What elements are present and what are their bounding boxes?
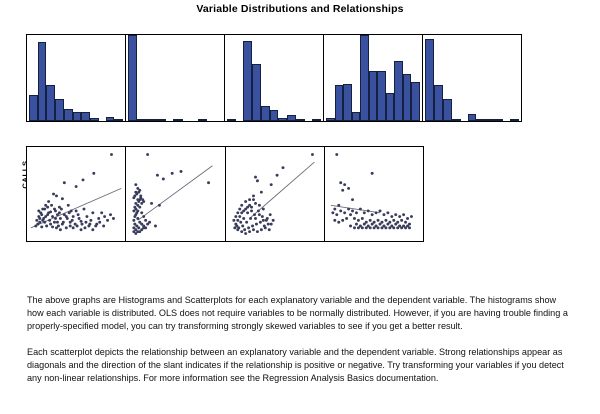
scatter-point — [267, 228, 270, 231]
scatter-point — [337, 204, 340, 207]
scatter-point — [53, 221, 56, 224]
histogram-bar — [73, 112, 82, 121]
scatter-point — [254, 223, 257, 226]
scatter-point — [357, 219, 360, 222]
scatter-point — [261, 219, 264, 222]
scatter-point — [243, 228, 246, 231]
histogram-bar — [278, 118, 287, 121]
scatter-point — [410, 215, 413, 218]
scatter-point — [351, 210, 354, 213]
scatter-point — [139, 206, 142, 209]
scatter-point — [265, 217, 268, 220]
scatter-point — [310, 153, 313, 156]
scatter-point — [349, 225, 352, 228]
scatter-point — [44, 215, 47, 218]
scatter-point — [333, 208, 336, 211]
scatter-point — [236, 219, 239, 222]
scatter-point — [135, 191, 138, 194]
scatter-point — [46, 206, 49, 209]
scatter-point — [248, 198, 251, 201]
histogram-bar — [425, 39, 434, 121]
histogram-bar — [369, 71, 378, 121]
scatter-point — [345, 217, 348, 220]
notes-paragraph-histograms: The above graphs are Histograms and Scat… — [27, 294, 575, 334]
scatter-point — [386, 211, 389, 214]
scatter-point — [142, 225, 145, 228]
scatter-point — [207, 181, 210, 184]
scatter-point — [275, 174, 278, 177]
scatter-canvas — [27, 147, 125, 241]
scatter-point — [66, 217, 69, 220]
scatter-point — [353, 226, 356, 229]
scatter-point — [394, 213, 397, 216]
histogram-bars — [425, 35, 519, 121]
scatter-point — [339, 210, 342, 213]
scatter-point — [91, 211, 94, 214]
histogram-bar — [252, 64, 261, 121]
scatter-point — [347, 208, 350, 211]
scatter-point — [244, 200, 247, 203]
scatter-point — [256, 210, 259, 213]
scatter-point — [244, 232, 247, 235]
histogram-bar — [296, 119, 305, 121]
scatter-point — [376, 226, 379, 229]
histogram-bar — [443, 99, 452, 121]
scatter-point — [242, 210, 245, 213]
histogram-bar — [360, 35, 369, 121]
scatter-point — [55, 226, 58, 229]
scatter-point — [363, 211, 366, 214]
histogram-bars — [227, 35, 321, 121]
scatter-point — [35, 219, 38, 222]
scatter-point — [140, 211, 143, 214]
scatter-point — [110, 153, 113, 156]
scatter-point — [142, 215, 145, 218]
scatter-point — [343, 183, 346, 186]
scatter-point — [98, 221, 101, 224]
histogram-bars — [128, 35, 222, 121]
scatter-point — [43, 208, 46, 211]
histogram-bar — [468, 114, 477, 121]
scatter-point — [341, 189, 344, 192]
scatter-point — [396, 226, 399, 229]
scatter-point — [54, 210, 57, 213]
scatter-point — [83, 208, 86, 211]
scatter-point — [150, 202, 153, 205]
scatter-point — [370, 223, 373, 226]
scatter-point — [52, 193, 55, 196]
scatter-point — [388, 226, 391, 229]
scatter-point — [144, 219, 147, 222]
scatter-point — [240, 230, 243, 233]
scatter-point — [378, 223, 381, 226]
scatter-point — [253, 213, 256, 216]
scatter-point — [406, 217, 409, 220]
histogram-bar — [90, 118, 99, 121]
scatter-point — [134, 223, 137, 226]
scatter-point — [251, 225, 254, 228]
scatter-point — [67, 204, 70, 207]
scatter-point — [89, 219, 92, 222]
histogram-bar — [198, 119, 207, 121]
scatter-point — [260, 215, 263, 218]
scatter-point — [63, 213, 66, 216]
page-title: Variable Distributions and Relationships — [0, 3, 600, 15]
scatter-point — [77, 213, 80, 216]
scatter-point — [80, 228, 83, 231]
scatter-point — [138, 191, 141, 194]
scatter-point — [63, 181, 66, 184]
scatter-point — [384, 219, 387, 222]
histogram-bar — [227, 119, 236, 121]
scatter-point — [100, 211, 103, 214]
histogram-bar — [106, 117, 115, 121]
scatter-point — [365, 226, 368, 229]
scatter-point — [154, 225, 157, 228]
scatter-point — [148, 221, 151, 224]
scatter-point — [368, 226, 371, 229]
scatter-canvas — [325, 147, 423, 241]
scatter-point — [238, 208, 241, 211]
scatter-point — [103, 215, 106, 218]
histogram-bar — [64, 109, 73, 121]
scatter-point — [70, 210, 73, 213]
scatter-point — [92, 172, 95, 175]
scatter-point — [139, 230, 142, 233]
scatter-point — [40, 225, 43, 228]
histogram-bar — [114, 119, 123, 121]
notes-section: The above graphs are Histograms and Scat… — [27, 294, 575, 397]
scatter-point — [252, 194, 255, 197]
histogram-bars — [326, 35, 420, 121]
scatter-point — [400, 219, 403, 222]
scatter-canvas — [226, 147, 324, 241]
scatter-point — [359, 208, 362, 211]
histogram-bar — [326, 118, 335, 121]
scatter-point — [239, 221, 242, 224]
scatter-point — [60, 208, 63, 211]
scatter-point — [171, 172, 174, 175]
scatter-point — [268, 213, 271, 216]
scatter-point — [240, 204, 243, 207]
scatter-point — [59, 217, 62, 220]
scatter-point — [80, 220, 83, 223]
scatter-point — [269, 183, 272, 186]
histogram-bar — [485, 119, 494, 121]
scatter-point — [97, 217, 100, 220]
histogram-panel-calls: CALLS — [423, 35, 521, 121]
scatter-point — [271, 219, 274, 222]
histogram-bar — [46, 85, 55, 121]
histogram-bar — [352, 112, 361, 121]
scatter-point — [72, 215, 75, 218]
scatter-point — [133, 226, 136, 229]
scatter-point — [133, 219, 136, 222]
histogram-bar — [156, 119, 165, 121]
scatter-point — [370, 172, 373, 175]
scatter-point — [374, 211, 377, 214]
scatter-point — [337, 221, 340, 224]
scatter-point — [247, 226, 250, 229]
scatter-point — [386, 223, 389, 226]
scatter-point — [353, 217, 356, 220]
scatter-point — [259, 191, 262, 194]
scatter-point — [135, 183, 138, 186]
histogram-bar — [394, 61, 403, 121]
scatter-point — [51, 225, 54, 228]
scatter-point — [257, 204, 260, 207]
scatter-point — [91, 228, 94, 231]
scatter-point — [351, 198, 354, 201]
scatter-point — [250, 210, 253, 213]
histogram-bar — [38, 42, 47, 121]
scatter-point — [47, 200, 50, 203]
scatter-point — [109, 213, 112, 216]
scatter-point — [378, 210, 381, 213]
scatter-point — [37, 210, 40, 213]
scatter-point — [404, 226, 407, 229]
scatter-point — [355, 211, 358, 214]
scatter-point — [238, 215, 241, 218]
scatter-point — [404, 221, 407, 224]
scatter-point — [146, 153, 149, 156]
scatter-point — [55, 194, 58, 197]
notes-paragraph-scatterplots: Each scatterplot depicts the relationshi… — [27, 346, 575, 386]
histogram-bars — [29, 35, 123, 121]
scatter-point — [249, 217, 252, 220]
histogram-bar — [137, 119, 146, 121]
scatter-point — [281, 166, 284, 169]
scatter-point — [158, 204, 161, 207]
scatter-canvas — [126, 147, 224, 241]
scatter-point — [245, 221, 248, 224]
scatter-point — [248, 230, 251, 233]
histogram-bar — [261, 106, 270, 121]
scatter-point — [137, 217, 140, 220]
histogram-row: POP JOBS LOWEDUC DST2URBCEN CALLS — [26, 34, 522, 122]
scatter-point — [47, 211, 50, 214]
scatter-point — [50, 204, 53, 207]
scatter-point — [349, 213, 352, 216]
scatter-point — [85, 215, 88, 218]
scatter-point — [34, 225, 37, 228]
scatter-point — [180, 170, 183, 173]
histogram-bar — [55, 99, 64, 121]
scatter-point — [51, 215, 54, 218]
scatter-point — [137, 187, 140, 190]
scatter-panel-calls-vs-jobs — [126, 147, 225, 241]
scatter-point — [357, 226, 360, 229]
scatter-point — [54, 217, 57, 220]
scatter-point — [61, 197, 64, 200]
scatter-point — [95, 223, 98, 226]
scatter-point — [38, 217, 41, 220]
histogram-bar — [476, 119, 485, 121]
histogram-bar — [510, 119, 519, 121]
scatter-point — [341, 219, 344, 222]
scatter-point — [236, 211, 239, 214]
scatter-point — [361, 217, 364, 220]
scatter-point — [75, 210, 78, 213]
scatter-point — [87, 225, 90, 228]
scatter-point — [382, 213, 385, 216]
scatter-point — [76, 225, 79, 228]
scatter-point — [269, 223, 272, 226]
scatter-point — [133, 196, 136, 199]
scatter-point — [156, 174, 159, 177]
scatter-point — [81, 223, 84, 226]
scatter-point — [331, 211, 334, 214]
scatter-point — [339, 181, 342, 184]
histogram-bar — [494, 119, 503, 121]
scatter-point — [259, 228, 262, 231]
scatter-point — [347, 187, 350, 190]
scatter-point — [49, 223, 52, 226]
scatter-point — [255, 179, 258, 182]
scatter-point — [392, 219, 395, 222]
scatter-point — [78, 217, 81, 220]
histogram-bar — [243, 41, 252, 121]
scatter-point — [48, 219, 51, 222]
histogram-bar — [386, 93, 395, 121]
scatter-point — [162, 178, 165, 181]
scatter-point — [254, 217, 257, 220]
scatter-point — [335, 213, 338, 216]
scatter-point — [367, 210, 370, 213]
scatter-point — [252, 228, 255, 231]
scatter-point — [398, 215, 401, 218]
scatter-point — [234, 215, 237, 218]
scatter-point — [376, 219, 379, 222]
scatter-point — [390, 215, 393, 218]
scatter-point — [236, 228, 239, 231]
scatter-point — [372, 226, 375, 229]
scatter-point — [246, 206, 249, 209]
scatter-point — [368, 219, 371, 222]
scatterplot-row — [26, 146, 424, 242]
histogram-bar — [335, 85, 344, 121]
scatter-point — [250, 206, 253, 209]
scatter-point — [233, 226, 236, 229]
scatter-point — [335, 153, 338, 156]
scatter-fit-line — [138, 166, 213, 221]
scatter-point — [408, 226, 411, 229]
scatter-point — [363, 223, 366, 226]
scatter-point — [400, 226, 403, 229]
histogram-bar — [411, 82, 420, 121]
scatter-point — [83, 226, 86, 229]
scatter-point — [45, 225, 48, 228]
scatter-point — [392, 226, 395, 229]
histogram-bar — [403, 74, 412, 121]
scatter-point — [138, 226, 141, 229]
scatter-point — [355, 223, 358, 226]
histogram-bar — [270, 110, 279, 121]
histogram-panel-loweduc: LOWEDUC — [225, 35, 324, 121]
scatter-point — [56, 221, 59, 224]
scatter-point — [84, 221, 87, 224]
scatter-point — [258, 221, 261, 224]
scatter-point — [384, 226, 387, 229]
scatter-point — [75, 185, 78, 188]
scatter-point — [242, 217, 245, 220]
histogram-bar — [173, 119, 182, 121]
scatter-point — [59, 228, 62, 231]
scatter-point — [106, 219, 109, 222]
scatter-point — [255, 230, 258, 233]
scatter-point — [40, 213, 43, 216]
scatter-point — [137, 210, 140, 213]
scatter-point — [254, 176, 257, 179]
scatter-point — [140, 194, 143, 197]
scatter-point — [370, 213, 373, 216]
histogram-bar — [452, 119, 461, 121]
scatter-point — [82, 178, 85, 181]
scatter-point — [69, 225, 72, 228]
histogram-bar — [29, 95, 38, 121]
scatter-point — [380, 226, 383, 229]
scatter-panel-calls-vs-loweduc — [226, 147, 325, 241]
scatter-point — [112, 217, 115, 220]
scatter-point — [58, 211, 61, 214]
scatter-point — [139, 198, 142, 201]
scatter-point — [343, 211, 346, 214]
scatter-point — [266, 223, 269, 226]
scatter-point — [402, 213, 405, 216]
scatter-point — [257, 213, 260, 216]
histogram-bar — [128, 35, 137, 121]
scatter-point — [333, 219, 336, 222]
scatter-panel-calls-vs-pop — [27, 147, 126, 241]
scatter-point — [394, 223, 397, 226]
scatter-point — [232, 219, 235, 222]
scatter-point — [133, 230, 136, 233]
histogram-panel-dst2urbcen: DST2URBCEN — [324, 35, 423, 121]
histogram-bar — [434, 85, 443, 121]
scatter-point — [263, 226, 266, 229]
scatter-point — [41, 219, 44, 222]
scatter-point — [61, 223, 64, 226]
scatter-panel-calls-vs-dst2urbcen — [325, 147, 423, 241]
histogram-bar — [81, 112, 90, 121]
scatter-point — [134, 215, 137, 218]
histogram-bar — [287, 115, 296, 121]
scatter-point — [65, 226, 68, 229]
histogram-bar — [343, 84, 352, 121]
scatter-point — [361, 226, 364, 229]
histogram-bar — [377, 71, 386, 121]
scatter-point — [261, 208, 264, 211]
scatter-point — [241, 225, 244, 228]
histogram-panel-jobs: JOBS — [126, 35, 225, 121]
scatter-point — [141, 198, 144, 201]
scatter-point — [254, 202, 257, 205]
scatter-point — [252, 198, 255, 201]
histogram-bar — [312, 119, 321, 121]
scatter-point — [246, 211, 249, 214]
scatter-point — [102, 225, 105, 228]
histogram-bar — [147, 119, 156, 121]
scatter-point — [69, 221, 72, 224]
scatter-point — [72, 226, 75, 229]
histogram-panel-pop: POP — [27, 35, 126, 121]
